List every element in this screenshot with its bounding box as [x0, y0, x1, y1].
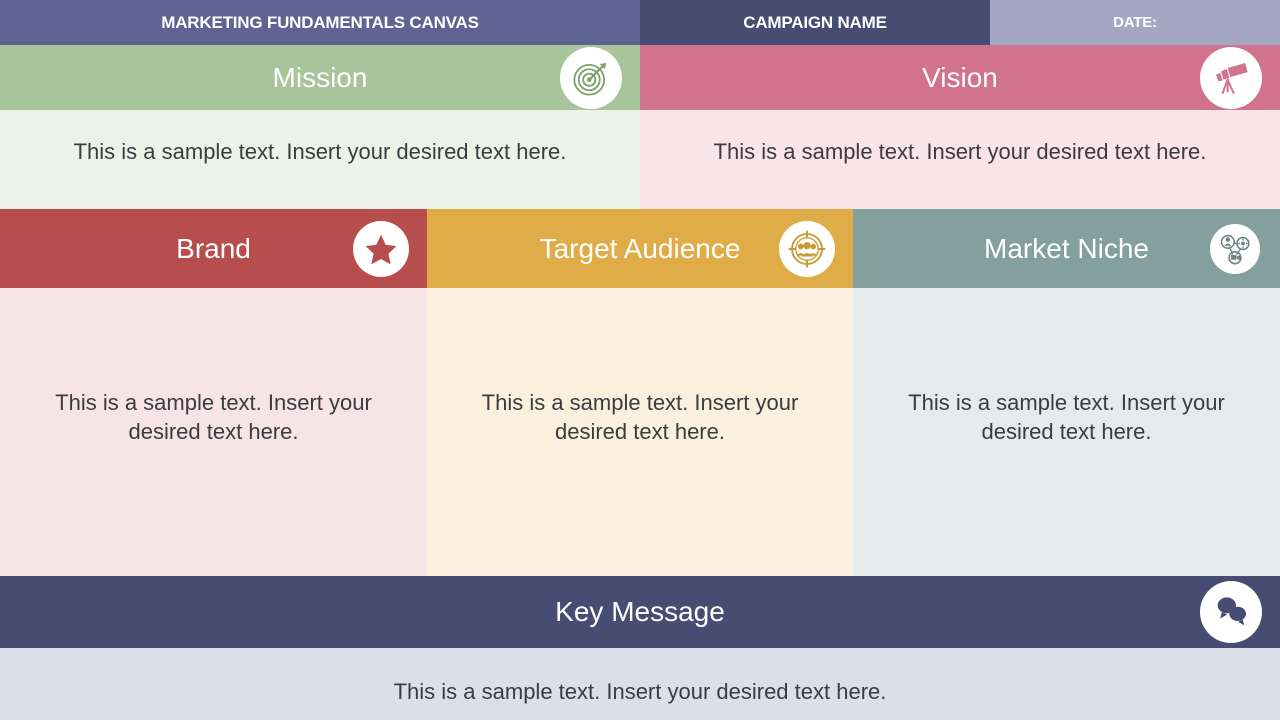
- vision-title: Vision: [922, 64, 998, 92]
- vision-section: Vision: [640, 45, 1280, 209]
- mission-header: Mission: [0, 45, 640, 110]
- mission-text: This is a sample text. Insert your desir…: [74, 138, 567, 209]
- key-message-header: Key Message: [0, 576, 1280, 648]
- canvas-header: MARKETING FUNDAMENTALS CANVAS CAMPAIGN N…: [0, 0, 1280, 45]
- market-niche-section: Market Niche: [853, 209, 1280, 576]
- marketing-canvas: MARKETING FUNDAMENTALS CANVAS CAMPAIGN N…: [0, 0, 1280, 720]
- target-audience-body[interactable]: This is a sample text. Insert your desir…: [427, 288, 853, 576]
- vision-text: This is a sample text. Insert your desir…: [714, 138, 1207, 209]
- key-message-body[interactable]: This is a sample text. Insert your desir…: [0, 648, 1280, 720]
- target-audience-title: Target Audience: [540, 235, 741, 263]
- market-niche-text: This is a sample text. Insert your desir…: [891, 388, 1241, 576]
- network-nodes-icon: [1210, 224, 1260, 274]
- key-message-title: Key Message: [555, 598, 725, 626]
- mission-title: Mission: [273, 64, 368, 92]
- market-niche-title: Market Niche: [984, 235, 1149, 263]
- key-message-section: Key Message This is a sample text. Inser…: [0, 576, 1280, 720]
- mission-vision-row: Mission This is a sample tex: [0, 45, 1280, 209]
- vision-body[interactable]: This is a sample text. Insert your desir…: [640, 110, 1280, 209]
- brand-section: Brand This is a sample text. Insert your…: [0, 209, 427, 576]
- telescope-icon: [1200, 47, 1262, 109]
- target-arrow-icon: [560, 47, 622, 109]
- audience-crosshair-icon: [779, 221, 835, 277]
- vision-header: Vision: [640, 45, 1280, 110]
- mission-section: Mission This is a sample tex: [0, 45, 640, 209]
- target-audience-text: This is a sample text. Insert your desir…: [465, 388, 814, 576]
- market-niche-body[interactable]: This is a sample text. Insert your desir…: [853, 288, 1280, 576]
- brand-title: Brand: [176, 235, 251, 263]
- mission-body[interactable]: This is a sample text. Insert your desir…: [0, 110, 640, 209]
- key-message-text: This is a sample text. Insert your desir…: [394, 678, 887, 720]
- canvas-title: MARKETING FUNDAMENTALS CANVAS: [0, 0, 640, 45]
- date-field[interactable]: DATE:: [990, 0, 1280, 45]
- brand-header: Brand: [0, 209, 427, 288]
- market-niche-header: Market Niche: [853, 209, 1280, 288]
- brand-body[interactable]: This is a sample text. Insert your desir…: [0, 288, 427, 576]
- target-audience-section: Target Audience: [427, 209, 853, 576]
- target-audience-header: Target Audience: [427, 209, 853, 288]
- campaign-name-field[interactable]: CAMPAIGN NAME: [640, 0, 990, 45]
- brand-text: This is a sample text. Insert your desir…: [38, 388, 388, 576]
- star-icon: [353, 221, 409, 277]
- three-column-row: Brand This is a sample text. Insert your…: [0, 209, 1280, 576]
- speech-bubbles-icon: [1200, 581, 1262, 643]
